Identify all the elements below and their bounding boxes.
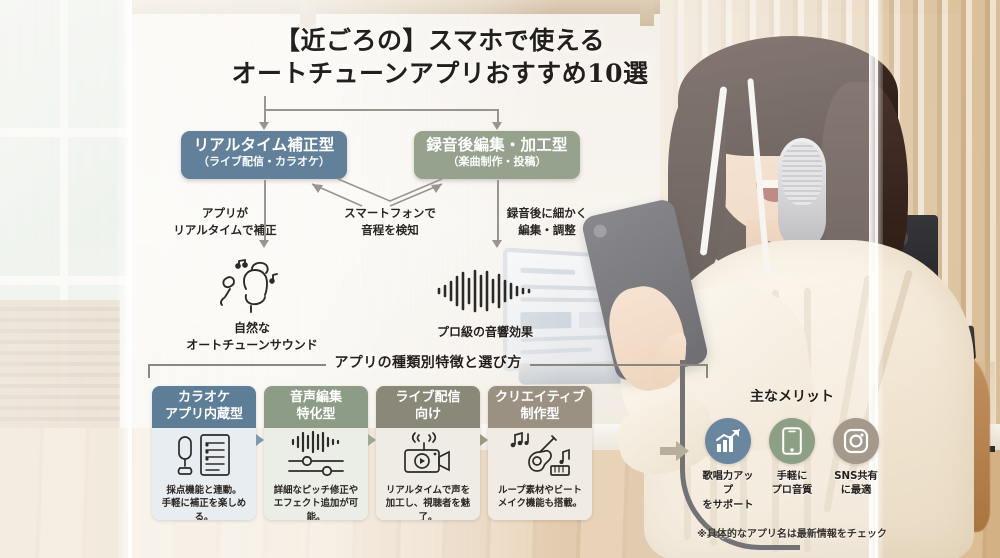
divider-tick-left [148, 364, 150, 378]
outcome-label: 自然な オートチューンサウンド [157, 320, 347, 354]
card-desc-line-2: 加工し、視聴者を魅了。 [379, 497, 477, 520]
merits-row: 歌唱力アップ をサポート 手軽に プロ音質 [694, 418, 890, 513]
card-title-line-2: 制作型 [520, 407, 559, 424]
card-title-line-2: アプリ内蔵型 [165, 407, 243, 424]
type-box-realtime-correction[interactable]: リアルタイム補正型 （ライブ配信・カラオケ） [181, 131, 347, 179]
card-desc-line-2: エフェクト追加が可能。 [267, 497, 365, 520]
merit-line-2: プロ音質 [764, 484, 820, 498]
card-header: 音声編集 特化型 [264, 386, 368, 428]
waveform-sliders-icon [264, 428, 368, 484]
microphone-score-icon [152, 428, 256, 484]
mid-label-smartphone-detect: スマートフォンで 音程を検知 [320, 205, 460, 238]
merit-label: 歌唱力アップ をサポート [700, 470, 756, 513]
rail-right [497, 180, 499, 240]
card-connector-arrow-3 [480, 386, 488, 446]
card-title-line-1: 音声編集 [290, 390, 342, 407]
mid-label-app-realtime: アプリが リアルタイムで補正 [155, 205, 295, 238]
infographic-canvas: 【近ごろの】スマホで使える オートチューンアプリおすすめ10選 リアルタイム補正… [0, 0, 1000, 558]
merits-heading: 主なメリット [694, 386, 890, 406]
type-box-post-recording-edit[interactable]: 録音後編集・加工型 （楽曲制作・投稿） [414, 131, 580, 179]
page-title: 【近ごろの】スマホで使える オートチューンアプリおすすめ10選 [180, 24, 700, 91]
card-desc-line-1: 採点機能と連動。 [155, 484, 253, 497]
merit-line-2: に最適 [828, 484, 884, 498]
triangle-right-icon [368, 434, 376, 446]
card-connector-arrow-2 [368, 386, 376, 446]
rail-left [264, 180, 266, 240]
arrow-rail-left [259, 240, 269, 248]
card-live-streaming[interactable]: ライブ配信 向け リアルタイムで声を 加工し、視聴者を魅了。 [376, 386, 480, 520]
merit-line-1: 手軽に [764, 470, 820, 484]
merits-section: 主なメリット 歌唱力アップ をサポート [694, 386, 890, 540]
label-line-2: 音程を検知 [320, 222, 460, 239]
card-description: 詳細なピッチ修正や エフェクト追加が可能。 [264, 484, 368, 520]
card-description: 採点機能と連動。 手軽に補正を楽しめる。 [152, 484, 256, 520]
card-title-line-2: 向け [415, 407, 441, 424]
connector-title-stem [264, 96, 266, 110]
merit-sns-sharing[interactable]: SNS共有 に最適 [828, 418, 884, 513]
merit-line-2: をサポート [700, 499, 756, 513]
card-row: カラオケ アプリ内蔵型 [152, 386, 712, 522]
label-line-1: アプリが [155, 205, 295, 222]
card-description: リアルタイムで声を 加工し、視聴者を魅了。 [376, 484, 480, 520]
outcome-line-1: プロ級の音響効果 [390, 324, 580, 341]
outcome-pro-sound: プロ級の音響効果 [390, 262, 580, 341]
merit-pro-audio-quality[interactable]: 手軽に プロ音質 [764, 418, 820, 513]
growth-chart-icon [715, 429, 741, 453]
merit-line-1: SNS共有 [828, 470, 884, 484]
type-box-subheading: （楽曲制作・投稿） [414, 155, 580, 170]
merit-circle [769, 418, 815, 464]
merits-footnote: ※具体的なアプリ名は最新情報をチェック [694, 525, 890, 540]
connector-title-branch [264, 109, 498, 111]
section-divider: アプリの種類別特徴と選び方 [148, 352, 708, 378]
merit-singing-support[interactable]: 歌唱力アップ をサポート [700, 418, 756, 513]
type-box-heading: リアルタイム補正型 [181, 136, 347, 155]
card-header: カラオケ アプリ内蔵型 [152, 386, 256, 428]
card-desc-line-1: 詳細なピッチ修正や [267, 484, 365, 497]
audio-waveform-icon [390, 262, 580, 320]
card-title-line-1: ライブ配信 [395, 390, 460, 407]
outcome-label: プロ級の音響効果 [390, 324, 580, 341]
arrow-to-box-1 [259, 122, 269, 130]
outcome-line-1: 自然な [157, 320, 347, 337]
card-desc-line-1: リアルタイムで声を [379, 484, 477, 497]
arrow-to-box-2 [492, 122, 502, 130]
card-desc-line-2: メイク機能も搭載。 [491, 497, 589, 510]
card-header: ライブ配信 向け [376, 386, 480, 428]
smartphone-icon [782, 427, 802, 455]
merit-label: 手軽に プロ音質 [764, 470, 820, 499]
divider-bar-left [148, 364, 326, 366]
arrow-right-to-merits [660, 440, 690, 462]
card-desc-line-2: 手軽に補正を楽しめる。 [155, 497, 253, 520]
card-title-line-2: 特化型 [296, 407, 335, 424]
merit-circle [833, 418, 879, 464]
card-description: ループ素材やビート メイク機能も搭載。 [488, 484, 592, 520]
card-connector-arrow-1 [256, 386, 264, 446]
connector-to-box-2 [497, 109, 499, 123]
panel-left-edge [118, 0, 132, 558]
card-creative-production[interactable]: クリエイティブ 制作型 [488, 386, 592, 520]
merit-label: SNS共有 に最適 [828, 470, 884, 499]
card-karaoke-builtin[interactable]: カラオケ アプリ内蔵型 [152, 386, 256, 520]
merit-line-1: 歌唱力アップ [700, 470, 756, 499]
merit-circle [705, 418, 751, 464]
title-line-2: オートチューンアプリおすすめ10選 [180, 57, 700, 90]
label-line-2: リアルタイムで補正 [155, 222, 295, 239]
section-heading: アプリの種類別特徴と選び方 [325, 352, 530, 372]
type-box-subheading: （ライブ配信・カラオケ） [181, 155, 347, 170]
type-box-heading: 録音後編集・加工型 [414, 136, 580, 155]
title-line-1: 【近ごろの】スマホで使える [180, 24, 700, 57]
live-camera-icon [376, 428, 480, 484]
singer-mic-icon [157, 258, 347, 316]
connector-to-box-1 [264, 109, 266, 123]
arrow-rail-right [492, 240, 502, 248]
card-voice-edit-specialized[interactable]: 音声編集 特化型 [264, 386, 368, 520]
card-header: クリエイティブ 制作型 [488, 386, 592, 428]
v-apex-lines [330, 179, 450, 203]
card-title-line-1: カラオケ [178, 390, 230, 407]
divider-tick-right [706, 364, 708, 378]
card-desc-line-1: ループ素材やビート [491, 484, 589, 497]
outcome-natural-autotune: 自然な オートチューンサウンド [157, 258, 347, 354]
triangle-right-icon [480, 434, 488, 446]
card-title-line-1: クリエイティブ [495, 390, 585, 407]
guitar-music-icon [488, 428, 592, 484]
label-line-1: スマートフォンで [320, 205, 460, 222]
triangle-right-icon [256, 434, 264, 446]
divider-bar-right [530, 364, 708, 366]
instagram-icon [843, 428, 869, 454]
